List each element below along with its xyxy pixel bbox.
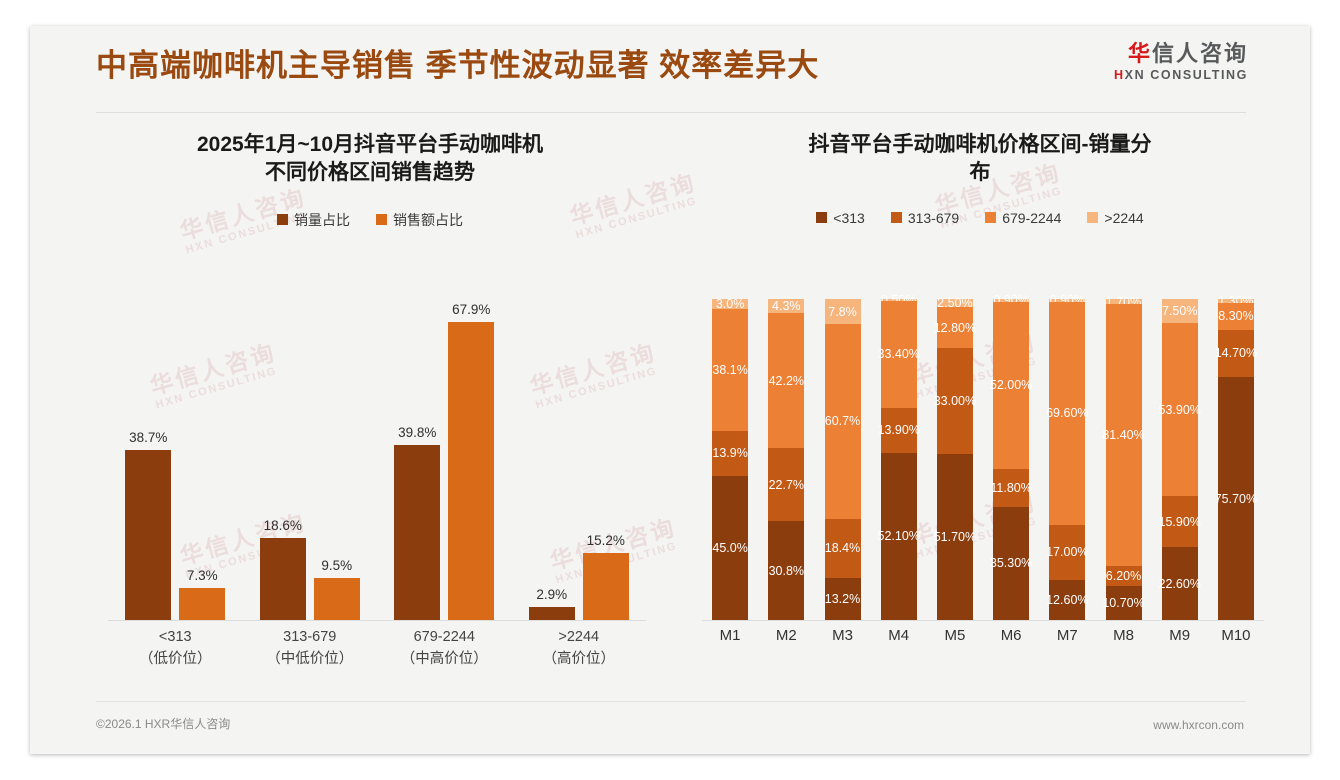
right-chart-axis-line <box>702 620 1264 621</box>
stacked-bar-column[interactable]: 2.50%12.80%33.00%51.70% <box>927 299 983 620</box>
logo-chinese-text: 华信人咨询 <box>1114 42 1248 66</box>
x-axis-tick-label: <313（低价位） <box>108 627 243 671</box>
segment-value-label: 22.7% <box>769 478 804 492</box>
logo-english-text: HXN CONSULTING <box>1114 68 1248 82</box>
bar-value-label: 18.6% <box>264 518 302 533</box>
bar-column[interactable]: 9.5% <box>314 291 360 620</box>
stacked-bar-segment[interactable]: 15.90% <box>1162 496 1198 547</box>
segment-value-label: 53.90% <box>1159 403 1201 417</box>
left-chart-legend: 销量占比销售额占比 <box>70 210 670 230</box>
segment-value-label: 13.2% <box>825 592 860 606</box>
x-axis-tick-range: 679-2244 <box>377 627 512 649</box>
stacked-bar-segment[interactable]: 33.40% <box>881 301 917 408</box>
left-chart-title-line1: 2025年1月~10月抖音平台手动咖啡机 <box>108 131 632 159</box>
legend-swatch-icon <box>816 212 827 223</box>
stacked-bar-segment[interactable]: 81.40% <box>1106 304 1142 565</box>
stacked-bar-segment[interactable]: 42.2% <box>768 313 804 448</box>
stacked-bar-segment[interactable]: 13.2% <box>825 578 861 620</box>
stacked-bar-segment[interactable]: 12.80% <box>937 307 973 348</box>
legend-item[interactable]: >2244 <box>1087 210 1143 226</box>
right-chart-plot: 3.0%38.1%13.9%45.0%4.3%42.2%22.7%30.8%7.… <box>690 291 1270 621</box>
segment-value-label: 17.00% <box>1046 545 1088 559</box>
right-chart-title-line2: 布 <box>718 159 1242 187</box>
stacked-bar-segment[interactable]: 53.90% <box>1162 323 1198 496</box>
segment-value-label: 11.80% <box>990 481 1031 495</box>
legend-label: 销量占比 <box>294 210 350 230</box>
slide: 华信人咨询HXN CONSULTING 华信人咨询HXN CONSULTING … <box>0 0 1340 780</box>
segment-value-label: 33.40% <box>878 347 920 361</box>
stacked-bar-segment[interactable]: 45.0% <box>712 476 748 620</box>
slide-card: 华信人咨询HXN CONSULTING 华信人咨询HXN CONSULTING … <box>30 26 1310 754</box>
segment-value-label: 75.70% <box>1215 492 1257 506</box>
stacked-bar-column[interactable]: 4.3%42.2%22.7%30.8% <box>758 299 814 620</box>
left-chart-x-axis-labels: <313（低价位）313-679（中低价位）679-2244（中高价位）>224… <box>108 627 646 671</box>
segment-value-label: 13.9% <box>712 446 747 460</box>
x-axis-tick-sublabel: （中低价位） <box>243 649 378 671</box>
stacked-bar-segment[interactable]: 18.4% <box>825 519 861 578</box>
stacked-bar-segment[interactable]: 7.50% <box>1162 299 1198 323</box>
segment-value-label: 18.4% <box>825 541 860 555</box>
x-axis-tick-sublabel: （中高价位） <box>377 649 512 671</box>
stacked-bar[interactable]: 7.50%53.90%15.90%22.60% <box>1162 299 1198 620</box>
x-axis-tick-sublabel: （低价位） <box>108 649 243 671</box>
bar-column[interactable]: 38.7% <box>125 291 171 620</box>
x-axis-tick-label: M9 <box>1152 627 1208 644</box>
bar-column[interactable]: 18.6% <box>260 291 306 620</box>
stacked-bar-segment[interactable]: 22.7% <box>768 448 804 521</box>
x-axis-tick-range: 313-679 <box>243 627 378 649</box>
stacked-bar-segment[interactable]: 6.20% <box>1106 566 1142 586</box>
x-axis-tick-label: M2 <box>758 627 814 644</box>
segment-value-label: 30.8% <box>769 564 804 578</box>
bar[interactable] <box>448 322 494 620</box>
stacked-bar-column[interactable]: 3.0%38.1%13.9%45.0% <box>702 299 758 620</box>
stacked-bar[interactable]: 0.90%69.60%17.00%12.60% <box>1049 299 1085 620</box>
segment-value-label: 33.00% <box>934 394 976 408</box>
segment-value-label: 14.70% <box>1215 346 1257 360</box>
left-chart-title: 2025年1月~10月抖音平台手动咖啡机 不同价格区间销售趋势 <box>70 131 670 188</box>
bar-value-label: 9.5% <box>321 558 352 573</box>
segment-value-label: 12.60% <box>1046 593 1088 607</box>
segment-value-label: 10.70% <box>1102 596 1144 610</box>
stacked-bar[interactable]: 0.90%52.00%11.80%35.30% <box>993 299 1029 620</box>
stacked-bar-column[interactable]: 7.50%53.90%15.90%22.60% <box>1152 299 1208 620</box>
stacked-bar-segment[interactable]: 11.80% <box>993 469 1029 507</box>
stacked-bar[interactable]: 2.50%12.80%33.00%51.70% <box>937 299 973 620</box>
stacked-bar-segment[interactable]: 17.00% <box>1049 525 1085 580</box>
bar-group: 39.8%67.9% <box>377 291 512 620</box>
segment-value-label: 7.50% <box>1162 304 1197 318</box>
legend-swatch-icon <box>277 214 288 225</box>
stacked-bar[interactable]: 1.30%8.30%14.70%75.70% <box>1218 299 1254 620</box>
bar[interactable] <box>314 578 360 620</box>
stacked-bar-segment[interactable]: 60.7% <box>825 324 861 519</box>
right-chart-title: 抖音平台手动咖啡机价格区间-销量分 布 <box>680 131 1280 188</box>
segment-value-label: 13.90% <box>878 423 920 437</box>
right-chart-panel: 抖音平台手动咖啡机价格区间-销量分 布 <313313-679679-2244>… <box>680 131 1280 701</box>
bar-value-label: 39.8% <box>398 425 436 440</box>
segment-value-label: 38.1% <box>712 363 747 377</box>
bar[interactable] <box>179 588 225 620</box>
segment-value-label: 52.00% <box>990 378 1032 392</box>
stacked-bar-segment[interactable]: 33.00% <box>937 348 973 454</box>
company-logo: 华信人咨询 HXN CONSULTING <box>1114 42 1248 82</box>
bar[interactable] <box>529 607 575 620</box>
stacked-bar-segment[interactable]: 13.90% <box>881 408 917 453</box>
segment-value-label: 8.30% <box>1218 309 1253 323</box>
footer-website: www.hxrcon.com <box>1153 718 1244 732</box>
right-chart-x-axis-labels: M1M2M3M4M5M6M7M8M9M10 <box>702 627 1264 644</box>
stacked-bar-column[interactable]: 1.30%8.30%14.70%75.70% <box>1208 299 1264 620</box>
bar-value-label: 7.3% <box>187 568 218 583</box>
x-axis-tick-range: <313 <box>108 627 243 649</box>
footer-copyright: ©2026.1 HXR华信人咨询 <box>96 715 230 732</box>
stacked-bar-column[interactable]: 0.50%33.40%13.90%52.10% <box>871 299 927 620</box>
stacked-bar-column[interactable]: 1.70%81.40%6.20%10.70% <box>1095 299 1151 620</box>
right-chart-legend: <313313-679679-2244>2244 <box>680 210 1280 226</box>
legend-swatch-icon <box>1087 212 1098 223</box>
right-chart-title-line1: 抖音平台手动咖啡机价格区间-销量分 <box>718 131 1242 159</box>
segment-value-label: 51.70% <box>934 530 976 544</box>
legend-label: 销售额占比 <box>393 210 463 230</box>
bar-column[interactable]: 67.9% <box>448 291 494 620</box>
stacked-bar[interactable]: 1.70%81.40%6.20%10.70% <box>1106 299 1142 620</box>
segment-value-label: 35.30% <box>990 556 1032 570</box>
segment-value-label: 12.80% <box>934 321 976 335</box>
stacked-bar-segment[interactable]: 3.0% <box>712 299 748 309</box>
bar-group: 38.7%7.3% <box>108 291 243 620</box>
legend-label: 679-2244 <box>1002 210 1061 226</box>
bar-value-label: 15.2% <box>587 533 625 548</box>
stacked-bar-segment[interactable]: 69.60% <box>1049 302 1085 525</box>
stacked-bar-segment[interactable]: 4.3% <box>768 299 804 313</box>
segment-value-label: 52.10% <box>878 529 920 543</box>
page-title: 中高端咖啡机主导销售 季节性波动显著 效率差异大 <box>96 40 819 85</box>
segment-value-label: 81.40% <box>1102 428 1144 442</box>
bar-value-label: 38.7% <box>129 430 167 445</box>
legend-item[interactable]: <313 <box>816 210 865 226</box>
stacked-bar-column[interactable]: 0.90%52.00%11.80%35.30% <box>983 299 1039 620</box>
stacked-bar-segment[interactable]: 10.70% <box>1106 586 1142 620</box>
stacked-bar-column[interactable]: 0.90%69.60%17.00%12.60% <box>1039 299 1095 620</box>
stacked-bar-segment[interactable]: 13.9% <box>712 431 748 476</box>
segment-value-label: 15.90% <box>1159 515 1201 529</box>
slide-header: 中高端咖啡机主导销售 季节性波动显著 效率差异大 华信人咨询 HXN CONSU… <box>30 26 1310 104</box>
bar[interactable] <box>260 538 306 620</box>
x-axis-tick-label: M5 <box>927 627 983 644</box>
legend-label: 313-679 <box>908 210 959 226</box>
stacked-bar-segment[interactable]: 38.1% <box>712 309 748 431</box>
x-axis-tick-label: >2244（高价位） <box>512 627 647 671</box>
left-chart-title-line2: 不同价格区间销售趋势 <box>108 159 632 187</box>
x-axis-tick-label: M10 <box>1208 627 1264 644</box>
stacked-bar-segment[interactable]: 51.70% <box>937 454 973 620</box>
bar-column[interactable]: 39.8% <box>394 291 440 620</box>
bar-value-label: 2.9% <box>536 587 567 602</box>
x-axis-tick-label: M3 <box>814 627 870 644</box>
left-chart-panel: 2025年1月~10月抖音平台手动咖啡机 不同价格区间销售趋势 销量占比销售额占… <box>70 131 670 701</box>
bar-column[interactable]: 7.3% <box>179 291 225 620</box>
bar-column[interactable]: 15.2% <box>583 291 629 620</box>
stacked-bar[interactable]: 4.3%42.2%22.7%30.8% <box>768 299 804 620</box>
segment-value-label: 4.3% <box>772 299 801 313</box>
x-axis-tick-label: M8 <box>1095 627 1151 644</box>
legend-swatch-icon <box>985 212 996 223</box>
bar-value-label: 67.9% <box>452 302 490 317</box>
segment-value-label: 45.0% <box>712 541 747 555</box>
legend-swatch-icon <box>376 214 387 225</box>
segment-value-label: 60.7% <box>825 414 860 428</box>
segment-value-label: 69.60% <box>1046 406 1088 420</box>
x-axis-tick-range: >2244 <box>512 627 647 649</box>
segment-value-label: 7.8% <box>828 305 857 319</box>
x-axis-tick-sublabel: （高价位） <box>512 649 647 671</box>
stacked-bar-segment[interactable]: 7.8% <box>825 299 861 324</box>
stacked-bar[interactable]: 3.0%38.1%13.9%45.0% <box>712 299 748 620</box>
segment-value-label: 22.60% <box>1159 577 1201 591</box>
x-axis-tick-label: M1 <box>702 627 758 644</box>
stacked-bar-segment[interactable]: 2.50% <box>937 299 973 307</box>
x-axis-tick-label: M6 <box>983 627 1039 644</box>
bar[interactable] <box>125 450 171 620</box>
bar-column[interactable]: 2.9% <box>529 291 575 620</box>
left-chart-axis-line <box>108 620 646 621</box>
stacked-bar-segment[interactable]: 75.70% <box>1218 377 1254 620</box>
segment-value-label: 6.20% <box>1106 569 1141 583</box>
segment-value-label: 42.2% <box>769 374 804 388</box>
stacked-bar-segment[interactable]: 22.60% <box>1162 547 1198 620</box>
x-axis-tick-label: M7 <box>1039 627 1095 644</box>
left-chart-plot: 38.7%7.3%18.6%9.5%39.8%67.9%2.9%15.2% <3… <box>88 291 654 621</box>
legend-item[interactable]: 313-679 <box>891 210 959 226</box>
legend-item[interactable]: 销量占比 <box>277 210 350 230</box>
legend-item[interactable]: 679-2244 <box>985 210 1061 226</box>
legend-label: >2244 <box>1104 210 1143 226</box>
stacked-bar-segment[interactable]: 12.60% <box>1049 580 1085 620</box>
stacked-bar-segment[interactable]: 35.30% <box>993 507 1029 620</box>
stacked-bar-segment[interactable]: 30.8% <box>768 521 804 620</box>
x-axis-tick-label: 313-679（中低价位） <box>243 627 378 671</box>
stacked-bar-segment[interactable]: 52.00% <box>993 302 1029 469</box>
stacked-bar-segment[interactable]: 8.30% <box>1218 303 1254 330</box>
legend-item[interactable]: 销售额占比 <box>376 210 463 230</box>
x-axis-tick-label: 679-2244（中高价位） <box>377 627 512 671</box>
stacked-bar[interactable]: 7.8%60.7%18.4%13.2% <box>825 299 861 620</box>
footer-divider <box>96 701 1246 702</box>
x-axis-tick-label: M4 <box>871 627 927 644</box>
stacked-bar[interactable]: 0.50%33.40%13.90%52.10% <box>881 299 917 620</box>
bar[interactable] <box>583 553 629 620</box>
bar-group: 18.6%9.5% <box>243 291 378 620</box>
legend-swatch-icon <box>891 212 902 223</box>
legend-label: <313 <box>833 210 865 226</box>
stacked-bar-segment[interactable]: 14.70% <box>1218 330 1254 377</box>
stacked-bar-column[interactable]: 7.8%60.7%18.4%13.2% <box>814 299 870 620</box>
header-divider <box>96 112 1246 113</box>
bar-group: 2.9%15.2% <box>512 291 647 620</box>
stacked-bar-segment[interactable]: 52.10% <box>881 453 917 620</box>
bar[interactable] <box>394 445 440 620</box>
